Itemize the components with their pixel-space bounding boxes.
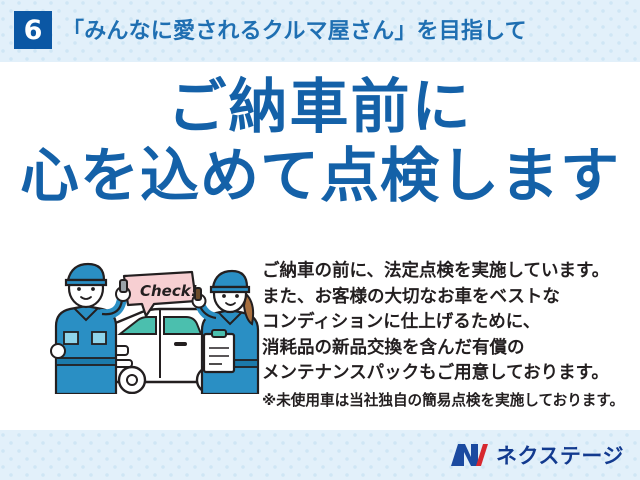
page-title: ご納車前に 心を込めて点検します	[0, 76, 640, 207]
section-number-badge: 6	[14, 11, 52, 49]
footer-bar: ネクステージ	[0, 430, 640, 480]
body-line: また、お客様の大切なお車をベストな	[262, 284, 630, 310]
brand-logo: ネクステージ	[449, 438, 624, 472]
advertisement-page: 6 「みんなに愛されるクルマ屋さん」を目指して ご納車前に 心を込めて点検します	[0, 0, 640, 480]
headline-line-1: ご納車前に	[0, 76, 640, 139]
headline-line-2: 心を込めて点検します	[0, 145, 640, 208]
header-title: 「みんなに愛されるクルマ屋さん」を目指して	[62, 13, 527, 45]
content-panel: ご納車前に 心を込めて点検します	[0, 62, 640, 430]
body-line: 消耗品の新品交換を含んだ有償の	[262, 335, 630, 361]
body-line: ご納車の前に、法定点検を実施しています。	[262, 258, 630, 284]
body-copy: ご納車の前に、法定点検を実施しています。 また、お客様の大切なお車をベストな コ…	[262, 258, 630, 413]
body-note: ※未使用車は当社独自の簡易点検を実施しております。	[262, 389, 630, 413]
header-bar: 6 「みんなに愛されるクルマ屋さん」を目指して	[0, 0, 640, 62]
mechanic-right	[193, 271, 259, 394]
mechanics-illustration: Check!	[46, 254, 261, 394]
speech-bubble-label: Check!	[140, 282, 198, 300]
body-line: コンディションに仕上げるために、	[262, 309, 630, 335]
brand-name: ネクステージ	[496, 440, 624, 470]
section-number-label: 6	[24, 17, 43, 44]
nextage-n-icon	[449, 441, 489, 469]
body-line: メンテナンスパックもご用意しております。	[262, 360, 630, 386]
